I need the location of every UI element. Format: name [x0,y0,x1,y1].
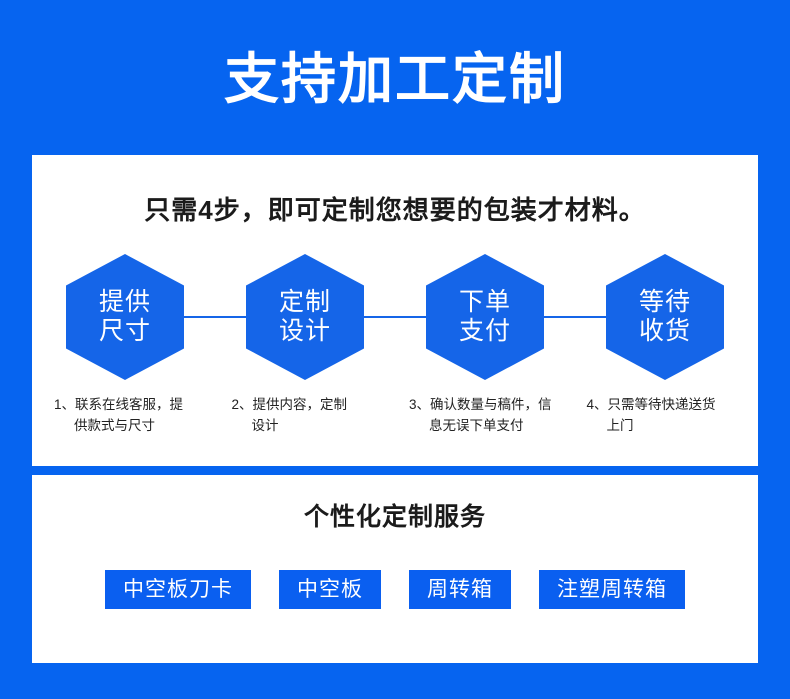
step-caption-line1: 1、联系在线客服，提 [54,397,183,412]
hexagon-label-line2: 设计 [279,317,331,347]
step-hexagon-3[interactable]: 下单 支付 [426,254,544,380]
services-title: 个性化定制服务 [32,475,758,530]
hexagon-label-line1: 等待 [639,288,691,318]
step-caption-line1: 3、确认数量与稿件，信 [409,397,552,412]
header-banner: 支持加工定制 [0,0,790,155]
step-caption-line2: 上门 [587,416,739,437]
step-connector-3-4 [544,316,606,318]
hexagon-label-line2: 支付 [459,317,511,347]
hexagon-label-line1: 下单 [459,288,511,318]
step-caption-line2: 供款式与尺寸 [54,416,206,437]
service-button-injection-turnover-box[interactable]: 注塑周转箱 [539,570,685,609]
hexagon-label-line2: 尺寸 [99,317,151,347]
steps-subtitle: 只需4步，即可定制您想要的包装才材料。 [32,155,758,223]
steps-captions-row: 1、联系在线客服，提 供款式与尺寸 2、提供内容，定制 设计 3、确认数量与稿件… [32,395,758,437]
service-buttons-row: 中空板刀卡 中空板 周转箱 注塑周转箱 [32,570,758,609]
step-caption-line2: 设计 [232,416,384,437]
step-caption-3: 3、确认数量与稿件，信 息无误下单支付 [395,395,573,437]
step-caption-line1: 2、提供内容，定制 [232,397,348,412]
hexagon-shape-2: 定制 设计 [246,254,364,380]
steps-panel: 只需4步，即可定制您想要的包装才材料。 提供 尺寸 定制 设计 下单 [32,155,758,466]
step-caption-line2: 息无误下单支付 [409,416,561,437]
step-caption-2: 2、提供内容，定制 设计 [218,395,396,437]
step-hexagon-1[interactable]: 提供 尺寸 [66,254,184,380]
hexagon-label-line1: 定制 [279,288,331,318]
service-button-hollow-board[interactable]: 中空板 [279,570,381,609]
service-button-hollow-board-knife-card[interactable]: 中空板刀卡 [105,570,251,609]
step-caption-4: 4、只需等待快递送货 上门 [573,395,751,437]
service-button-turnover-box[interactable]: 周转箱 [409,570,511,609]
hexagon-shape-1: 提供 尺寸 [66,254,184,380]
hexagon-shape-3: 下单 支付 [426,254,544,380]
hexagon-label-line1: 提供 [99,288,151,318]
services-panel: 个性化定制服务 中空板刀卡 中空板 周转箱 注塑周转箱 [32,475,758,663]
hexagon-label-line2: 收货 [639,317,691,347]
hexagon-shape-4: 等待 收货 [606,254,724,380]
steps-hexagon-row: 提供 尺寸 定制 设计 下单 支付 [32,253,758,381]
step-hexagon-2[interactable]: 定制 设计 [246,254,364,380]
step-caption-1: 1、联系在线客服，提 供款式与尺寸 [40,395,218,437]
step-caption-line1: 4、只需等待快递送货 [587,397,716,412]
step-connector-2-3 [364,316,426,318]
step-hexagon-4[interactable]: 等待 收货 [606,254,724,380]
step-connector-1-2 [184,316,246,318]
page-title: 支持加工定制 [224,52,566,107]
promo-page: 支持加工定制 只需4步，即可定制您想要的包装才材料。 提供 尺寸 定制 设计 [0,0,790,699]
